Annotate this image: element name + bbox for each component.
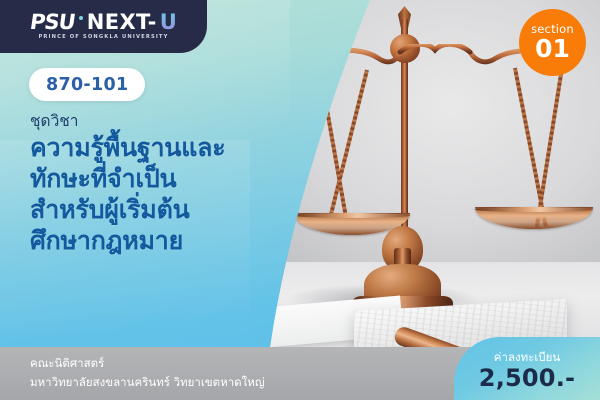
course-title-line-3: สำหรับผู้เริ่มต้น	[30, 195, 225, 226]
university-name: มหาวิทยาลัยสงขลานครินทร์ วิทยาเขตหาดใหญ่	[30, 373, 265, 392]
course-code-text: 870-101	[46, 75, 128, 95]
logo-next-text: NEXT-	[87, 12, 157, 33]
course-title-line-4: ศึกษากฎหมาย	[30, 226, 225, 257]
price-label: ค่าลงทะเบียน	[494, 351, 560, 364]
logo-subtitle: PRINCE OF SONGKLA UNIVERSITY	[30, 35, 177, 40]
scales-chain-right-outer	[535, 68, 564, 229]
logo-u-mark: U	[160, 12, 177, 33]
course-kicker: ชุดวิชา	[30, 112, 225, 131]
course-title-block: ชุดวิชา ความรู้พื้นฐานและ ทักษะที่จำเป็น…	[30, 112, 225, 256]
course-code-badge: 870-101	[29, 68, 145, 101]
course-title-line-1: ความรู้พื้นฐานและ	[30, 133, 225, 164]
scales-chain-right-inner	[513, 68, 548, 228]
section-badge: section 01	[519, 9, 586, 76]
brand-header: PSU NEXT- U PRINCE OF SONGKLA UNIVERSITY	[0, 0, 207, 53]
section-badge-number: 01	[535, 36, 570, 61]
price-panel: ค่าลงทะเบียน 2,500.-	[454, 337, 600, 400]
course-title: ความรู้พื้นฐานและ ทักษะที่จำเป็น สำหรับผ…	[30, 133, 225, 256]
logo-psu-mark: PSU	[29, 12, 77, 33]
price-amount: 2,500.-	[479, 366, 575, 390]
psu-next-u-logo: PSU NEXT- U PRINCE OF SONGKLA UNIVERSITY	[30, 12, 177, 40]
scales-pan-right	[475, 207, 593, 229]
course-title-line-2: ทักษะที่จำเป็น	[30, 164, 225, 195]
faculty-name: คณะนิติศาสตร์	[30, 354, 265, 373]
course-promo-card: PSU NEXT- U PRINCE OF SONGKLA UNIVERSITY…	[0, 0, 600, 400]
logo-dot-icon	[79, 16, 83, 20]
institution-info: คณะนิติศาสตร์ มหาวิทยาลัยสงขลานครินทร์ ว…	[30, 354, 265, 391]
